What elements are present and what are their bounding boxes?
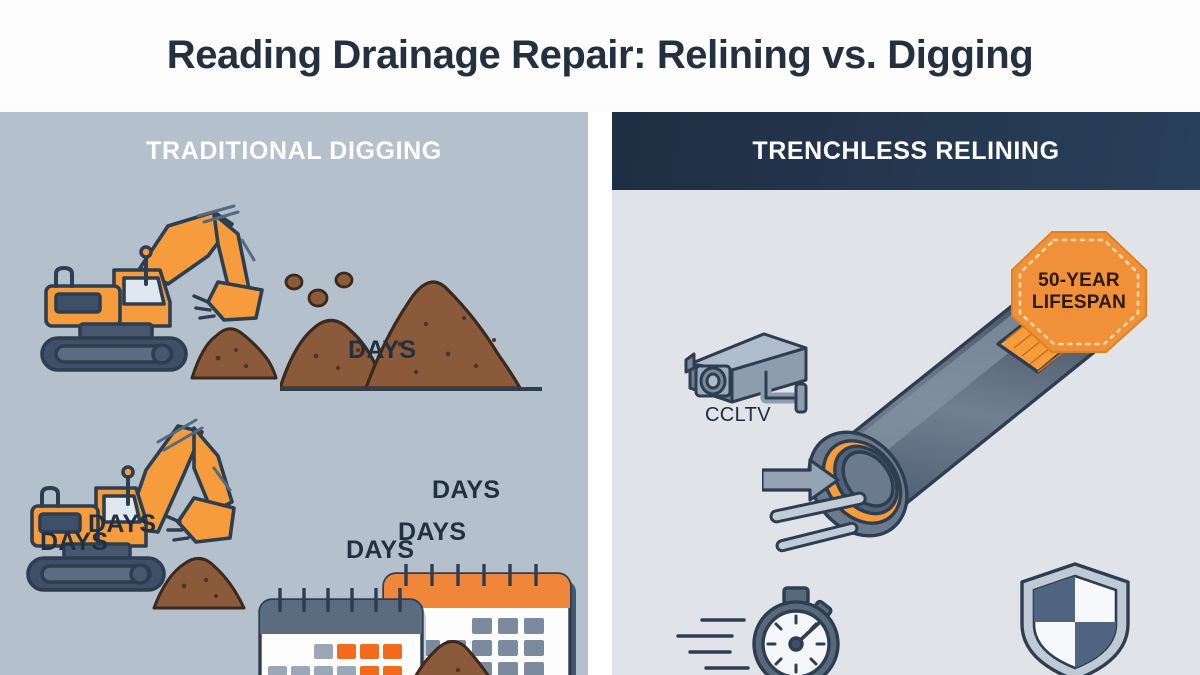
panel-right-header: TRENCHLESS RELINING — [612, 112, 1200, 190]
days-label: DAYS — [348, 336, 416, 365]
caption-cctv: CCLTV — [668, 404, 808, 428]
dirt-mound-calendar-icon — [396, 622, 522, 675]
panel-divider — [588, 112, 612, 675]
panel-trenchless-relining: TRENCHLESS RELINING — [612, 112, 1200, 675]
lifespan-badge: 50-YEAR LIFESPAN — [1008, 228, 1150, 356]
badge-octagon-shape — [1008, 228, 1150, 356]
panel-traditional-digging: TRADITIONAL DIGGING — [0, 112, 588, 675]
page-title: Reading Drainage Repair: Relining vs. Di… — [167, 33, 1034, 78]
days-label: DAYS — [432, 476, 500, 505]
shield-icon — [1010, 558, 1140, 675]
infographic-canvas: Reading Drainage Repair: Relining vs. Di… — [0, 0, 1200, 675]
dirt-mound-bottom-icon — [150, 542, 250, 612]
panel-right-header-label: TRENCHLESS RELINING — [752, 137, 1059, 166]
panel-left-body: DAYS DAYS DAYS DAYS DAYS DAYS — [0, 190, 588, 675]
dirt-mound-large-icon — [280, 248, 550, 398]
panel-left-header: TRADITIONAL DIGGING — [0, 112, 588, 190]
dirt-mound-small-icon — [188, 302, 278, 382]
stopwatch-icon — [668, 582, 858, 675]
days-label: DAYS — [40, 528, 108, 557]
days-label: DAYS — [346, 536, 414, 565]
panel-left-header-label: TRADITIONAL DIGGING — [146, 137, 442, 166]
title-bar: Reading Drainage Repair: Relining vs. Di… — [0, 0, 1200, 110]
